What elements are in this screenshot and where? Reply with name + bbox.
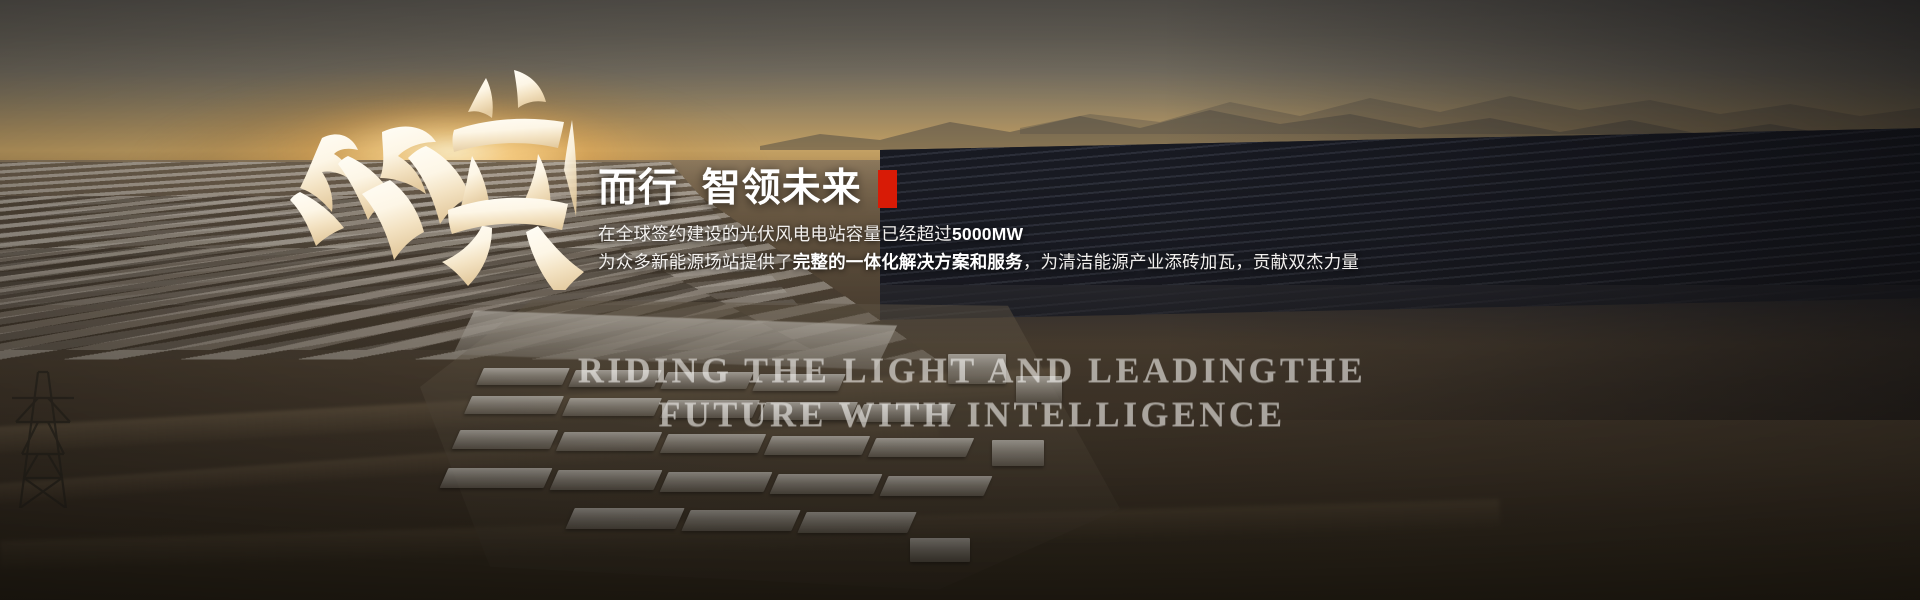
hero-banner: 而行 智领未来 在全球签约建设的光伏风电电站容量已经超过5000MW 为众多新能… [0,0,1920,600]
transmission-pylon-icon [8,358,78,508]
subtitle-line-2-prefix: 为众多新能源场站提供了 [598,252,793,272]
substation-yard [420,290,1120,590]
subtitle-line-1: 在全球签约建设的光伏风电电站容量已经超过5000MW [598,221,1378,248]
mountain-ridge-near [1020,78,1920,134]
headline-text: 而行 智领未来 [598,168,862,210]
subtitle-solution-highlight: 完整的一体化解决方案和服务 [793,252,1023,272]
copy-block: 而行 智领未来 在全球签约建设的光伏风电电站容量已经超过5000MW 为众多新能… [598,168,1378,275]
background-photo [0,0,1920,600]
subtitle-line-1-prefix: 在全球签约建设的光伏风电电站容量已经超过 [598,224,952,244]
subtitle-capacity-value: 5000MW [952,224,1023,244]
red-block-marker-icon [878,170,897,208]
subtitle-line-2: 为众多新能源场站提供了完整的一体化解决方案和服务，为清洁能源产业添砖加瓦，贡献双… [598,249,1378,276]
headline: 而行 智领未来 [598,168,1378,210]
subtitle-line-2-suffix: ，为清洁能源产业添砖加瓦，贡献双杰力量 [1023,252,1359,272]
